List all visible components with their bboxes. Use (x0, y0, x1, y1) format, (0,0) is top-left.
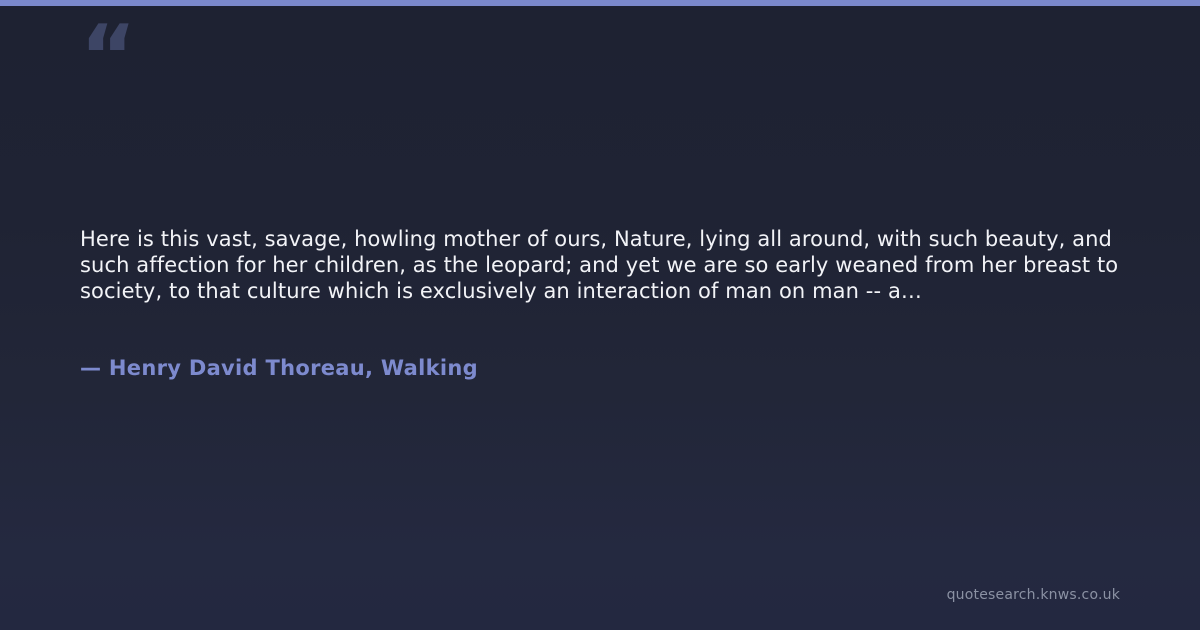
quotation-mark-icon: “ (80, 14, 135, 100)
quote-attribution: — Henry David Thoreau, Walking (80, 355, 478, 381)
quote-text: Here is this vast, savage, howling mothe… (80, 226, 1124, 304)
top-accent-bar (0, 0, 1200, 6)
site-watermark: quotesearch.knws.co.uk (947, 586, 1120, 604)
quote-card: “ Here is this vast, savage, howling mot… (0, 0, 1200, 630)
